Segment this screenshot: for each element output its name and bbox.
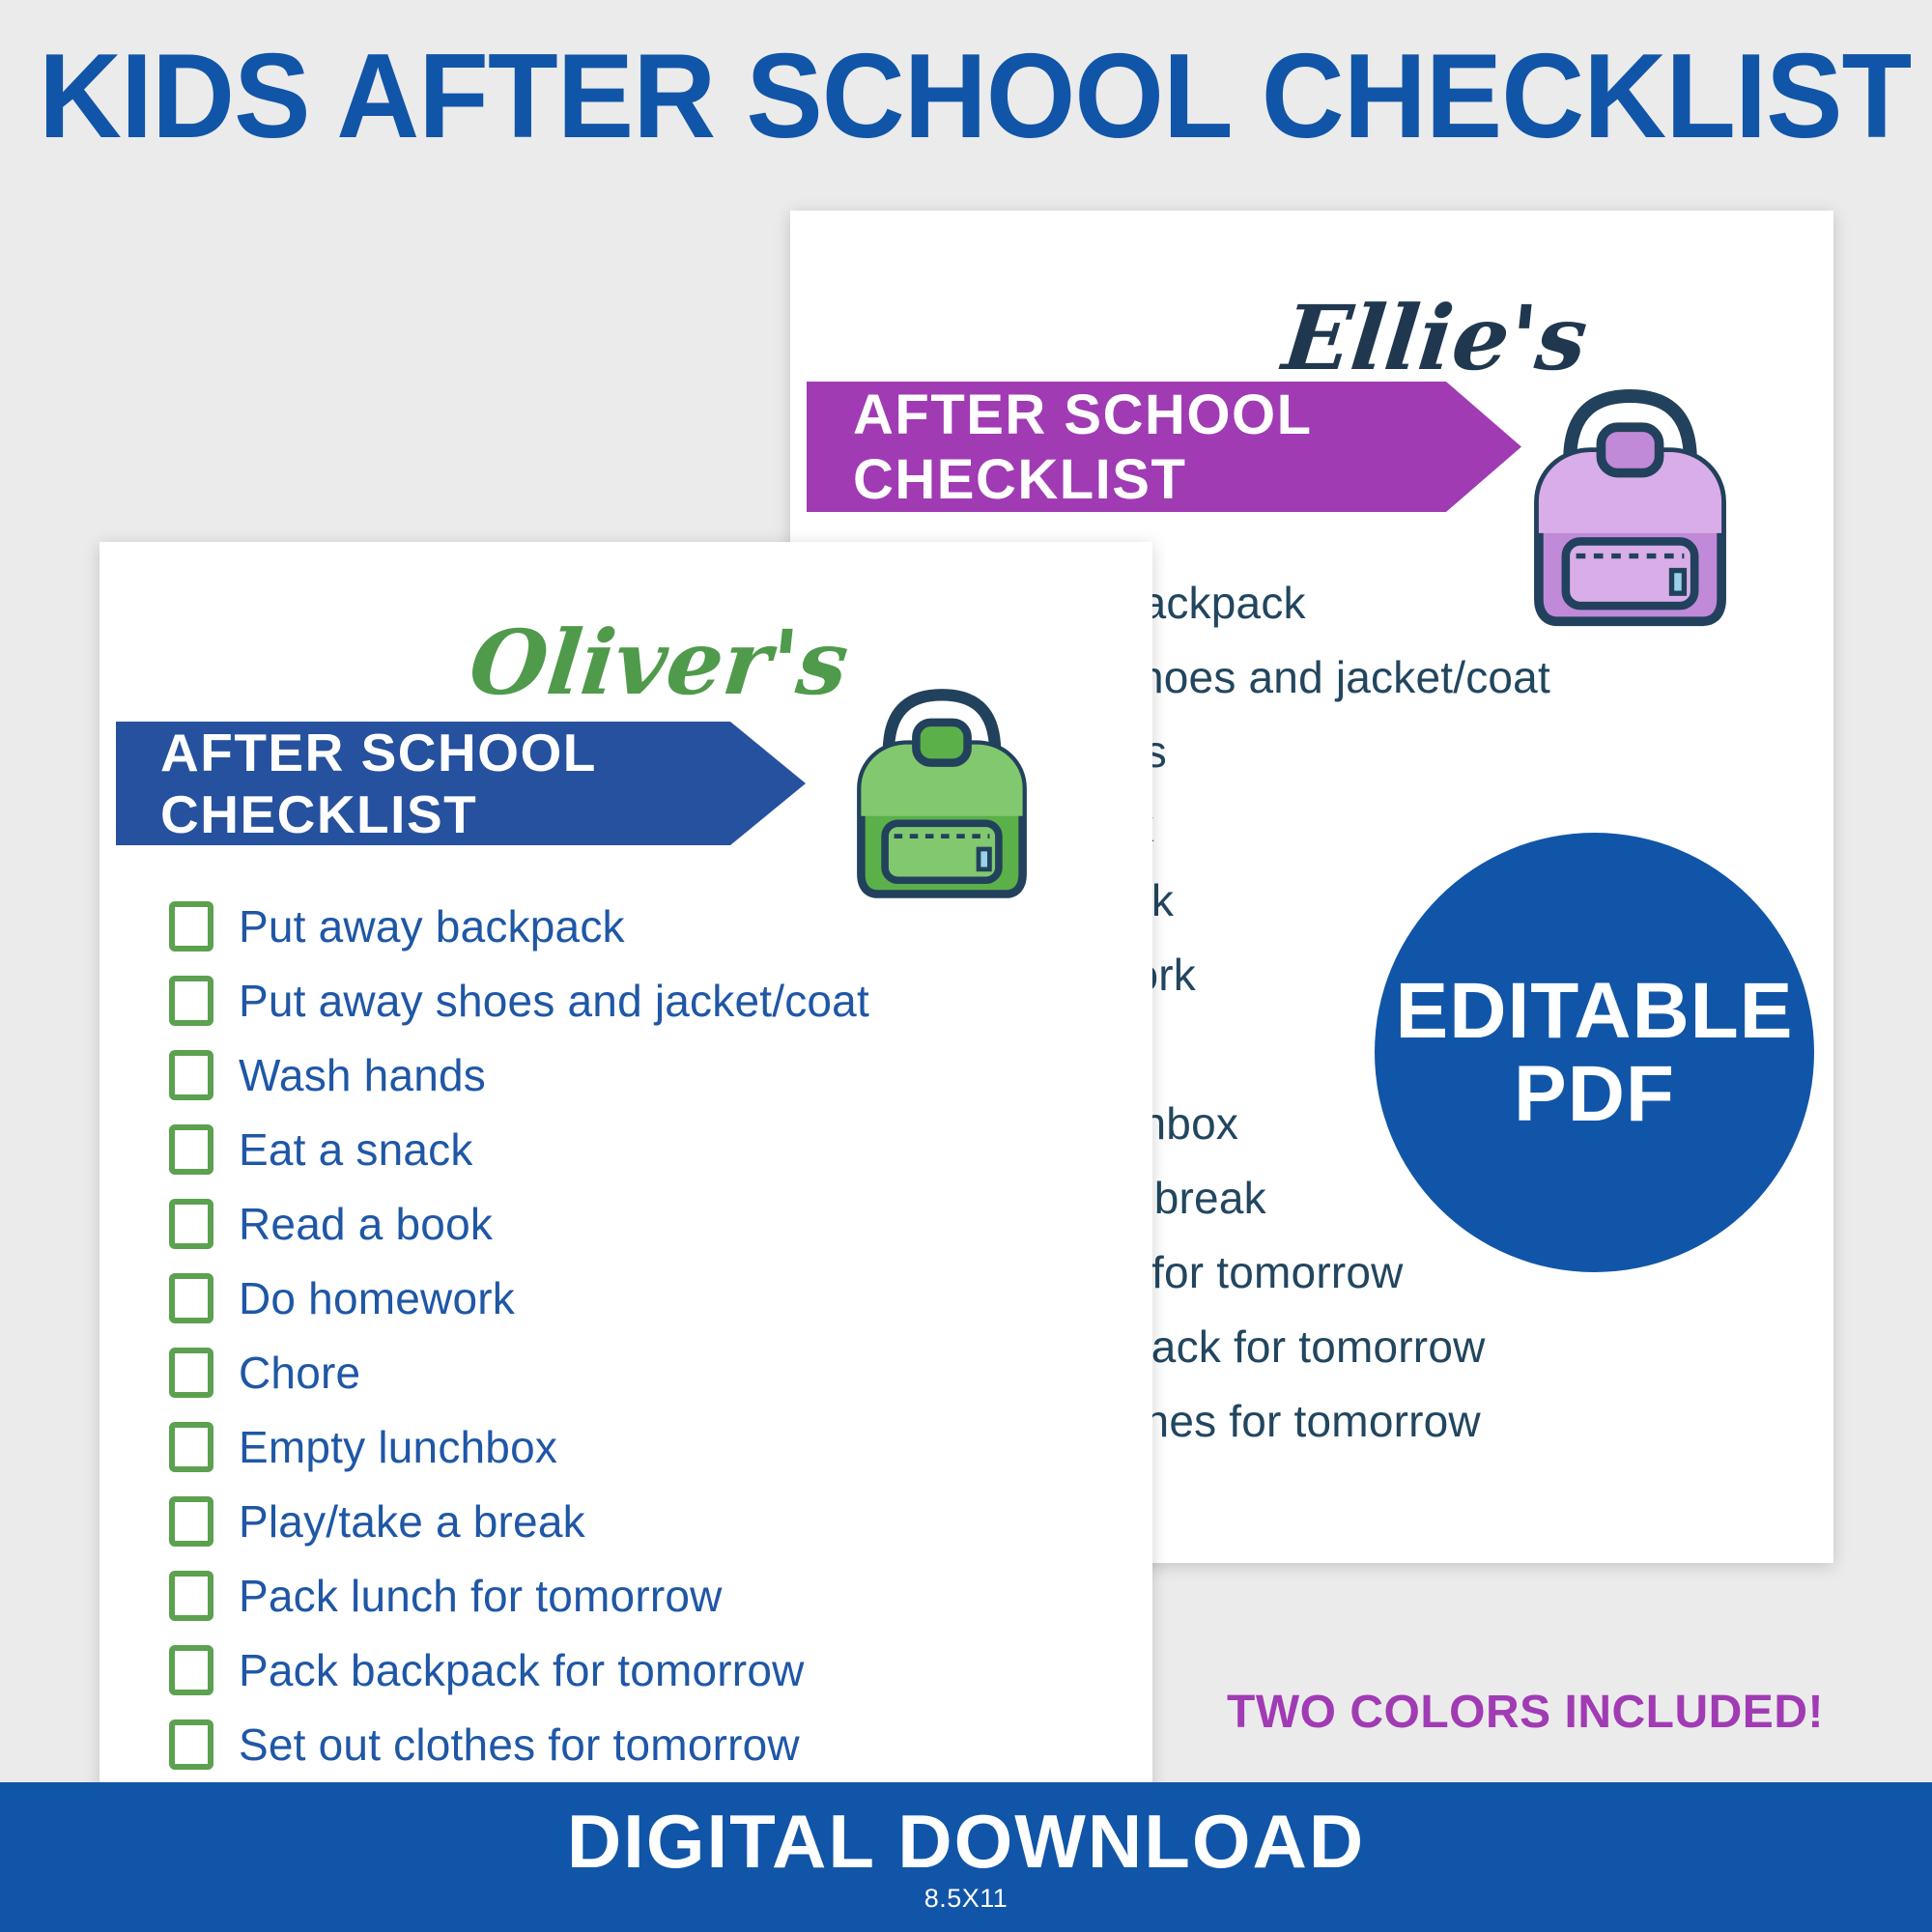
banner-oliver: AFTER SCHOOL CHECKLIST	[116, 722, 806, 845]
checklist-row[interactable]: Do homework	[169, 1261, 1000, 1335]
checklist-item-label: Put away shoes and jacket/coat	[239, 975, 869, 1027]
owner-name-oliver: Oliver's	[465, 611, 853, 715]
checklist-row[interactable]: Play/take a break	[169, 1484, 1000, 1558]
checklist-item-label: Eat a snack	[239, 1123, 473, 1176]
backpack-icon	[850, 676, 1034, 910]
checklist-item-label: Empty lunchbox	[239, 1421, 557, 1473]
banner-ellie: AFTER SCHOOL CHECKLIST	[807, 382, 1521, 512]
checklist-row[interactable]: Pack lunch for tomorrow	[169, 1558, 1000, 1633]
checklist-item-label: Put away backpack	[239, 900, 625, 952]
checkbox-icon[interactable]	[169, 1719, 213, 1770]
checklist-item-label: Wash hands	[239, 1049, 486, 1101]
checkbox-icon[interactable]	[169, 1124, 213, 1175]
banner-oliver-label: AFTER SCHOOL CHECKLIST	[160, 722, 806, 845]
editable-badge-line1: EDITABLE	[1396, 970, 1794, 1052]
checklist-row[interactable]: Pack backpack for tomorrow	[169, 1633, 1000, 1707]
owner-name-ellie: Ellie's	[1278, 286, 1592, 390]
footer-bar: DIGITAL DOWNLOAD 8.5X11	[0, 1782, 1932, 1932]
page-title: KIDS AFTER SCHOOL CHECKLIST	[39, 37, 1893, 156]
checkbox-icon[interactable]	[169, 901, 213, 952]
checkbox-icon[interactable]	[169, 1571, 213, 1621]
checklist-row[interactable]: Read a book	[169, 1186, 1000, 1261]
checklist-row[interactable]: Put away shoes and jacket/coat	[169, 963, 1000, 1037]
checkbox-icon[interactable]	[169, 1050, 213, 1100]
backpack-icon	[1526, 377, 1734, 638]
checklist-row[interactable]: Wash hands	[169, 1037, 1000, 1112]
checklist-row[interactable]: Chore	[169, 1335, 1000, 1409]
checklist-row[interactable]: Eat a snack	[169, 1112, 1000, 1186]
checklist-item-label: Read a book	[239, 1198, 493, 1250]
editable-badge-line2: PDF	[1514, 1053, 1675, 1135]
checklist-item-label: Pack backpack for tomorrow	[239, 1644, 805, 1696]
checklist-item-label: Pack lunch for tomorrow	[239, 1570, 723, 1622]
checklist-item-label: Set out clothes for tomorrow	[239, 1719, 800, 1771]
checklist-item-label: Chore	[239, 1347, 360, 1399]
checkbox-icon[interactable]	[169, 1645, 213, 1695]
checklist-row[interactable]: Set out clothes for tomorrow	[169, 1707, 1000, 1781]
editable-pdf-badge: EDITABLE PDF	[1375, 833, 1814, 1272]
digital-download-label: DIGITAL DOWNLOAD	[567, 1804, 1365, 1879]
checkbox-icon[interactable]	[169, 976, 213, 1026]
checkbox-icon[interactable]	[169, 1496, 213, 1547]
checkbox-icon[interactable]	[169, 1348, 213, 1398]
checkbox-icon[interactable]	[169, 1199, 213, 1249]
checklist-items-oliver: Put away backpackPut away shoes and jack…	[169, 889, 1000, 1781]
checkbox-icon[interactable]	[169, 1422, 213, 1472]
checklist-item-label: Do homework	[239, 1272, 515, 1324]
size-label: 8.5X11	[924, 1886, 1009, 1912]
checklist-item-label: Play/take a break	[239, 1495, 585, 1548]
two-colors-label: TWO COLORS INCLUDED!	[1215, 1686, 1835, 1739]
checklist-row[interactable]: Empty lunchbox	[169, 1409, 1000, 1484]
checkbox-icon[interactable]	[169, 1273, 213, 1323]
banner-ellie-label: AFTER SCHOOL CHECKLIST	[853, 383, 1521, 512]
